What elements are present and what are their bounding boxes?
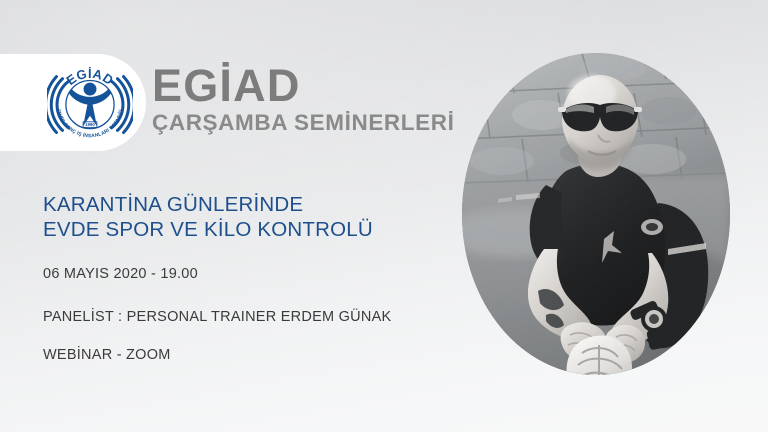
panelist-text: PANELİST : PERSONAL TRAINER ERDEM GÜNAK [43,309,391,325]
headline-line-1: KARANTİNA GÜNLERİNDE [43,192,373,217]
header-wordmark: EGİAD ÇARŞAMBA SEMİNERLERİ [152,63,454,136]
speaker-photo-oval [462,53,730,375]
headline-line-2: EVDE SPOR VE KİLO KONTROLÜ [43,217,373,242]
logo-year-text: 1990 [85,122,95,127]
date-time-text: 06 MAYIS 2020 - 19.00 [43,266,198,282]
seminar-poster: 1990 EGİAD İZMİR GENÇ İŞ İNSANLARI DERNE… [0,0,768,432]
brand-title: EGİAD [152,63,454,109]
egiad-association-logo: 1990 EGİAD İZMİR GENÇ İŞ İNSANLARI DERNE… [47,59,133,145]
seminar-headline: KARANTİNA GÜNLERİNDE EVDE SPOR VE KİLO K… [43,192,373,242]
series-subtitle: ÇARŞAMBA SEMİNERLERİ [152,110,454,136]
platform-text: WEBİNAR - ZOOM [43,347,171,363]
